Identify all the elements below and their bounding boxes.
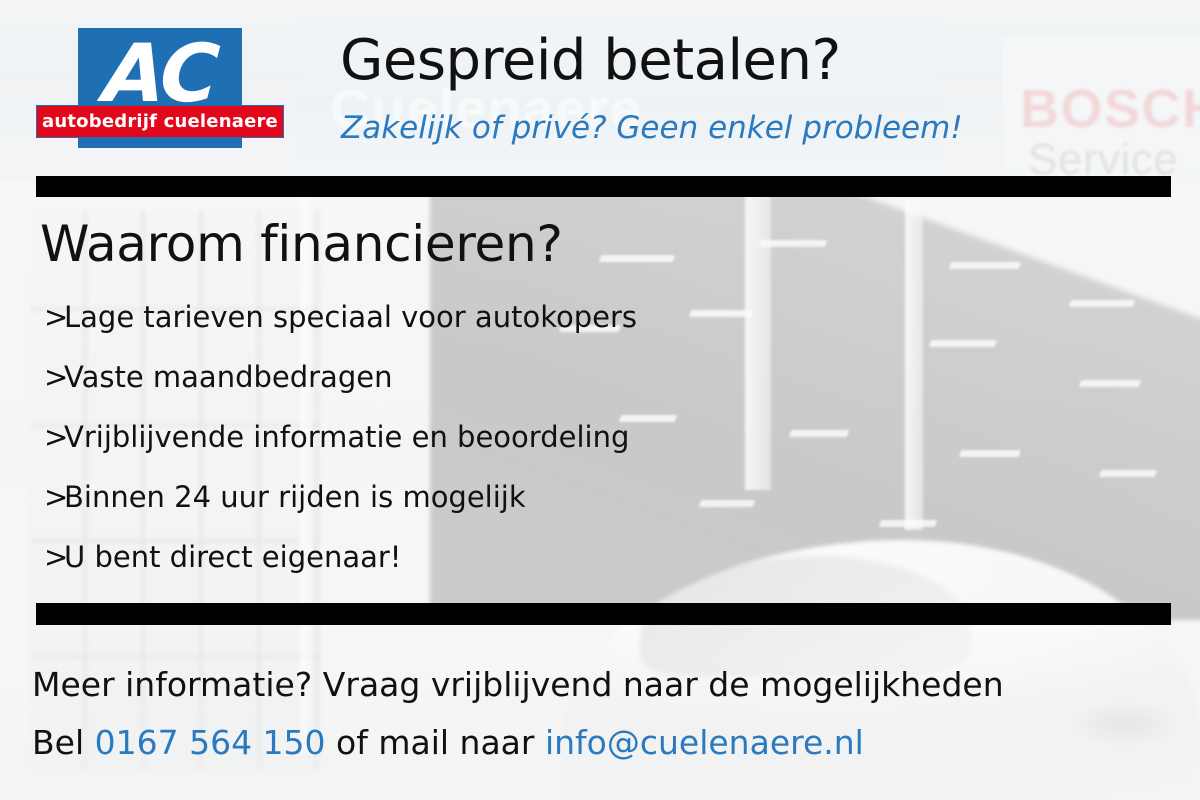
list-item: >U bent direct eigenaar!: [44, 534, 637, 594]
list-item: >Vaste maandbedragen: [44, 354, 637, 414]
list-item-label: Binnen 24 uur rijden is mogelijk: [64, 480, 526, 514]
footer-info-line: Meer informatie? Vraag vrijblijvend naar…: [32, 665, 1004, 704]
chevron-right-icon: >: [44, 534, 64, 580]
benefit-list: >Lage tarieven speciaal voor autokopers …: [44, 294, 637, 594]
logo-red-banner: autobedrijf cuelenaere: [36, 105, 284, 138]
company-logo: AC autobedrijf cuelenaere: [36, 28, 288, 150]
list-item-label: Lage tarieven speciaal voor autokopers: [64, 300, 637, 334]
phone-number-link[interactable]: 0167 564 150: [95, 723, 326, 762]
list-item-label: Vrijblijvende informatie en beoordeling: [64, 420, 629, 454]
chevron-right-icon: >: [44, 294, 64, 340]
divider-top: [36, 176, 1171, 197]
banner-content: AC autobedrijf cuelenaere Gespreid betal…: [0, 0, 1200, 800]
chevron-right-icon: >: [44, 354, 64, 400]
section-title: Waarom financieren?: [40, 215, 563, 273]
list-item-label: U bent direct eigenaar!: [64, 540, 401, 574]
list-item: >Lage tarieven speciaal voor autokopers: [44, 294, 637, 354]
footer-contact-line: Bel 0167 564 150 of mail naar info@cuele…: [32, 723, 864, 762]
chevron-right-icon: >: [44, 414, 64, 460]
chevron-right-icon: >: [44, 474, 64, 520]
list-item: >Binnen 24 uur rijden is mogelijk: [44, 474, 637, 534]
list-item: >Vrijblijvende informatie en beoordeling: [44, 414, 637, 474]
list-item-label: Vaste maandbedragen: [64, 360, 392, 394]
promo-banner: Cuelenaere BOSCH Service: [0, 0, 1200, 800]
headline: Gespreid betalen?: [340, 28, 841, 93]
footer-call-prefix: Bel: [32, 723, 95, 762]
email-link[interactable]: info@cuelenaere.nl: [545, 723, 864, 762]
footer-mail-middle: of mail naar: [326, 723, 545, 762]
subheadline: Zakelijk of privé? Geen enkel probleem!: [341, 110, 963, 146]
logo-tagline: autobedrijf cuelenaere: [37, 106, 283, 137]
divider-bottom: [36, 603, 1171, 625]
